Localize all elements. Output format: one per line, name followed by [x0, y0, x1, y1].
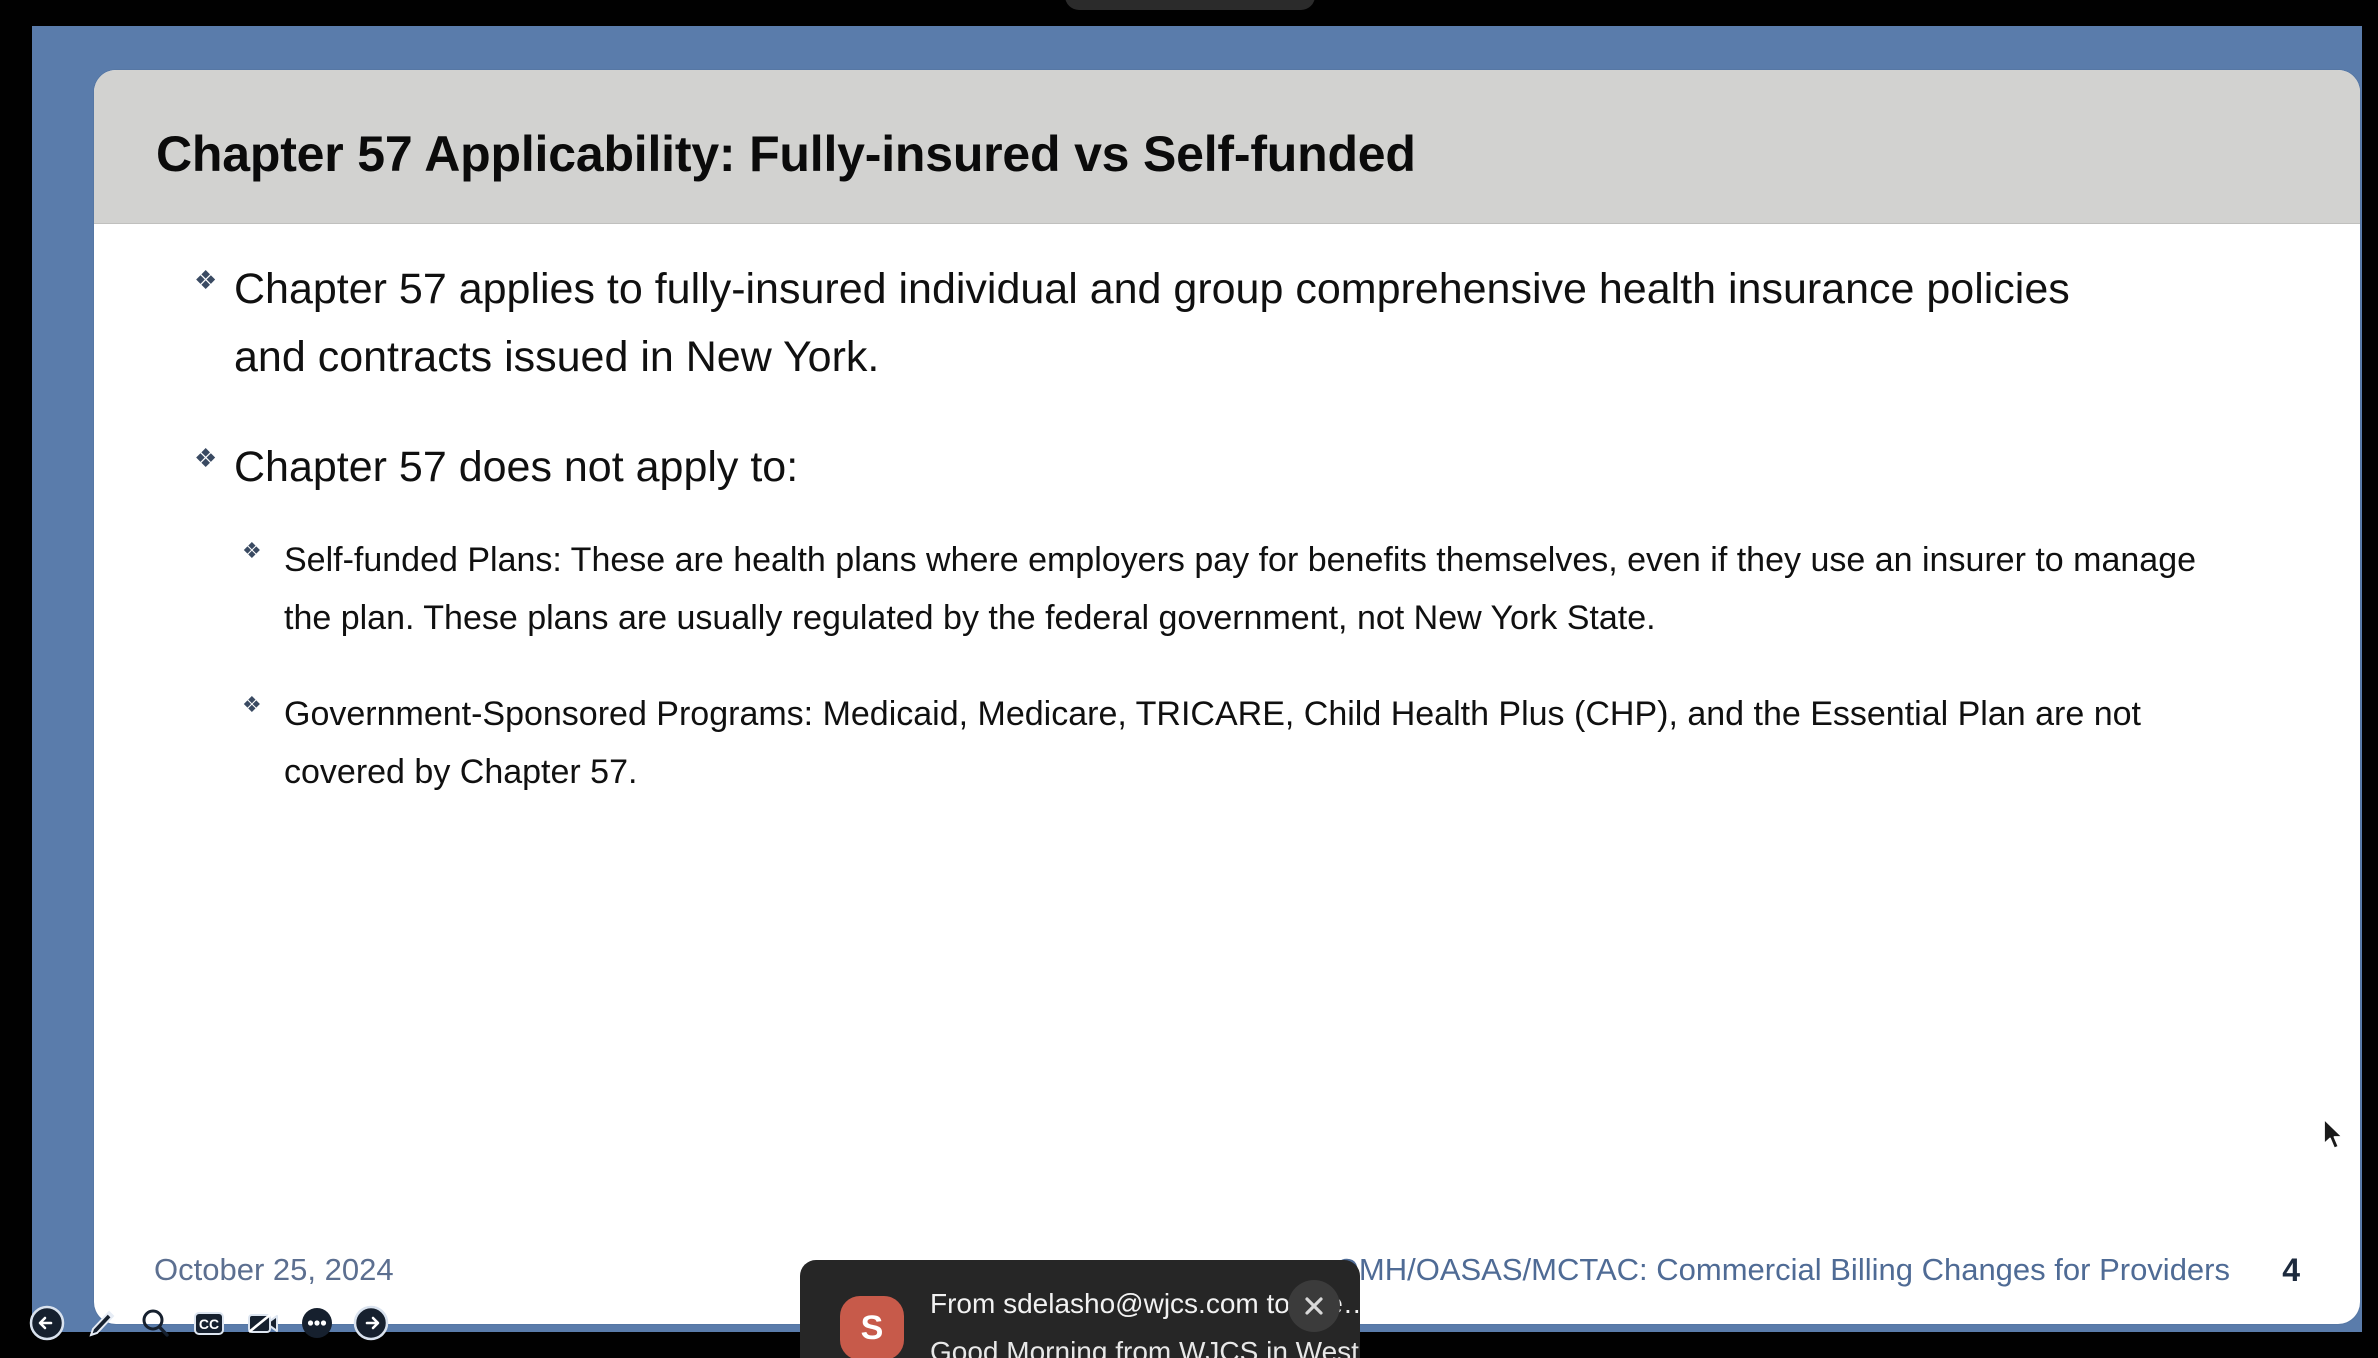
presentation-frame: Chapter 57 Applicability: Fully-insured … — [32, 26, 2362, 1332]
diamond-bullet-icon: ❖ — [194, 445, 217, 471]
slide-title-band: Chapter 57 Applicability: Fully-insured … — [94, 70, 2360, 224]
presentation-controls-toolbar[interactable]: CC — [26, 1302, 392, 1344]
camera-off-icon — [244, 1304, 282, 1342]
closed-captions-icon: CC — [190, 1304, 228, 1342]
bullet-text: Chapter 57 applies to fully-insured indi… — [234, 255, 2134, 391]
more-options-button[interactable] — [296, 1302, 338, 1344]
diamond-bullet-icon: ❖ — [242, 694, 262, 716]
camera-off-button[interactable] — [242, 1302, 284, 1344]
avatar: S — [840, 1296, 904, 1358]
diamond-bullet-icon: ❖ — [242, 540, 262, 562]
annotate-button[interactable] — [80, 1302, 122, 1344]
bullet-text: Chapter 57 does not apply to: — [234, 433, 798, 501]
arrow-right-circle-icon — [352, 1304, 390, 1342]
svg-text:CC: CC — [199, 1316, 219, 1332]
close-notification-button[interactable] — [1288, 1280, 1340, 1332]
bullet-item: ❖ Chapter 57 does not apply to: — [94, 433, 2360, 501]
zoom-button[interactable] — [134, 1302, 176, 1344]
chat-notification-toast[interactable]: S From sdelasho@wjcs.com to eve… Good Mo… — [800, 1260, 1360, 1358]
sub-bullet-text: Self-funded Plans: These are health plan… — [284, 531, 2204, 647]
footer-presentation-title: OMH/OASAS/MCTAC: Commercial Billing Chan… — [1335, 1252, 2230, 1288]
sub-bullet-text: Government-Sponsored Programs: Medicaid,… — [284, 685, 2204, 801]
next-slide-button[interactable] — [350, 1302, 392, 1344]
slide-body: ❖ Chapter 57 applies to fully-insured in… — [94, 223, 2360, 1324]
sub-bullet-item: ❖ Government-Sponsored Programs: Medicai… — [94, 685, 2360, 801]
notification-subtitle: Good Morning from WJCS in Westch — [930, 1336, 1360, 1358]
diamond-bullet-icon: ❖ — [194, 267, 217, 293]
arrow-left-circle-icon — [28, 1304, 66, 1342]
bullet-item: ❖ Chapter 57 applies to fully-insured in… — [94, 255, 2360, 391]
slide-title: Chapter 57 Applicability: Fully-insured … — [156, 125, 1416, 183]
footer-date: October 25, 2024 — [154, 1252, 394, 1288]
pen-icon — [82, 1304, 120, 1342]
sub-bullet-item: ❖ Self-funded Plans: These are health pl… — [94, 531, 2360, 647]
previous-slide-button[interactable] — [26, 1302, 68, 1344]
close-icon — [1301, 1293, 1327, 1319]
slide-canvas: Chapter 57 Applicability: Fully-insured … — [94, 70, 2360, 1324]
captions-button[interactable]: CC — [188, 1302, 230, 1344]
floating-meeting-toolbar[interactable] — [1065, 0, 1315, 10]
magnifier-icon — [136, 1304, 174, 1342]
footer-slide-number: 4 — [2282, 1252, 2300, 1289]
ellipsis-icon — [298, 1304, 336, 1342]
desktop-backdrop: Chapter 57 Applicability: Fully-insured … — [0, 0, 2378, 1358]
